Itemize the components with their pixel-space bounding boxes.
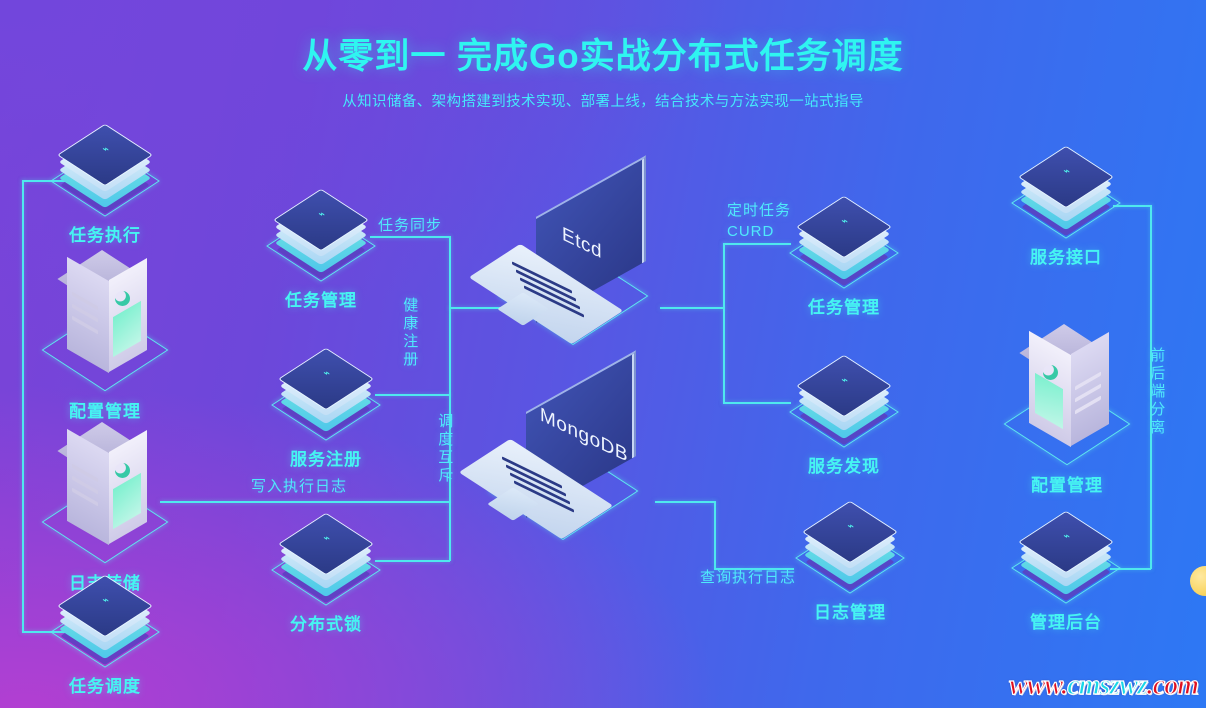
page-title: 从零到一 完成Go实战分布式任务调度 xyxy=(0,38,1206,77)
server-body xyxy=(1021,321,1113,453)
server-body xyxy=(59,247,151,379)
layered-stack-icon: ⌁ xyxy=(52,123,158,215)
server-power-led xyxy=(115,463,130,478)
laptop-icon: Etcd xyxy=(478,190,668,340)
node-distributed-lock[interactable]: ⌁ 分布式锁 xyxy=(273,512,379,635)
stack-chip-glyph: ⌁ xyxy=(323,532,329,545)
decorative-circle xyxy=(1190,566,1206,596)
edge-label-health-register: 健康注册 xyxy=(399,297,419,389)
node-config-management-left[interactable]: 配置管理 xyxy=(46,243,164,422)
node-label: 任务调度 xyxy=(52,672,158,697)
stack-chip-glyph: ⌁ xyxy=(323,367,329,380)
node-label: 服务注册 xyxy=(273,445,379,470)
node-label: 任务管理 xyxy=(268,286,374,311)
edge-label-timed-task: 定时任务 xyxy=(727,201,791,221)
node-log-dump[interactable]: 日志转储 xyxy=(46,415,164,594)
connector-logdump-to-lock xyxy=(160,501,450,503)
node-label: 管理后台 xyxy=(1013,608,1119,633)
server-tower-icon xyxy=(46,415,164,565)
edge-label-query-exec-log: 查询执行日志 xyxy=(700,568,796,588)
connector-bus-to-taskmgmt2 xyxy=(723,243,791,245)
edge-label-task-sync: 任务同步 xyxy=(378,216,442,236)
connector-col4-top-bus xyxy=(723,243,725,403)
stack-chip-glyph: ⌁ xyxy=(847,520,853,533)
node-mongodb[interactable]: MongoDB xyxy=(468,385,658,535)
edge-label-frontend-backend-split: 前后端分离 xyxy=(1146,347,1166,457)
connector-svcreg-to-bus xyxy=(375,394,450,396)
node-task-management-left[interactable]: ⌁ 任务管理 xyxy=(268,188,374,311)
layered-stack-icon: ⌁ xyxy=(791,354,897,446)
layered-stack-icon: ⌁ xyxy=(1013,510,1119,602)
stack-chip-glyph: ⌁ xyxy=(318,208,324,221)
node-label: 日志管理 xyxy=(797,598,903,623)
laptop-icon: MongoDB xyxy=(468,385,658,535)
diagram-canvas: 从零到一 完成Go实战分布式任务调度 从知识储备、架构搭建到技术实现、部署上线，… xyxy=(0,0,1206,708)
server-tower-icon xyxy=(1008,317,1126,467)
layered-stack-icon: ⌁ xyxy=(273,347,379,439)
header: 从零到一 完成Go实战分布式任务调度 从知识储备、架构搭建到技术实现、部署上线，… xyxy=(0,0,1206,111)
server-tower-icon xyxy=(46,243,164,393)
layered-stack-icon: ⌁ xyxy=(268,188,374,280)
node-etcd[interactable]: Etcd xyxy=(478,190,668,340)
layered-stack-icon: ⌁ xyxy=(273,512,379,604)
connector-etcd-out xyxy=(660,307,724,309)
connector-bus-to-svcdisc xyxy=(723,402,791,404)
node-label: 服务接口 xyxy=(1013,243,1119,268)
node-admin-console[interactable]: ⌁ 管理后台 xyxy=(1013,510,1119,633)
site-watermark: www.cmszwz.com xyxy=(1009,670,1198,702)
connector-col4-bottom-bus xyxy=(714,501,716,569)
layered-stack-icon: ⌁ xyxy=(52,574,158,666)
page-subtitle: 从知识储备、架构搭建到技术实现、部署上线，结合技术与方法实现一站式指导 xyxy=(0,90,1206,111)
node-service-discovery[interactable]: ⌁ 服务发现 xyxy=(791,354,897,477)
watermark-prefix: www. xyxy=(1009,670,1067,701)
node-label: 分布式锁 xyxy=(273,610,379,635)
node-service-api[interactable]: ⌁ 服务接口 xyxy=(1013,145,1119,268)
connector-mongo-out xyxy=(655,501,715,503)
layered-stack-icon: ⌁ xyxy=(791,195,897,287)
node-service-registry[interactable]: ⌁ 服务注册 xyxy=(273,347,379,470)
node-log-management[interactable]: ⌁ 日志管理 xyxy=(797,500,903,623)
watermark-domain: cmszwz xyxy=(1067,670,1147,701)
node-label: 配置管理 xyxy=(1008,471,1126,496)
connector-lock-to-bus xyxy=(375,560,450,562)
node-label: 任务管理 xyxy=(791,293,897,318)
stack-chip-glyph: ⌁ xyxy=(102,594,108,607)
node-config-management-right[interactable]: 配置管理 xyxy=(1008,317,1126,496)
node-task-execution[interactable]: ⌁ 任务执行 xyxy=(52,123,158,246)
server-body xyxy=(59,419,151,551)
layered-stack-icon: ⌁ xyxy=(1013,145,1119,237)
watermark-tld: .com xyxy=(1147,670,1198,701)
node-task-management-right[interactable]: ⌁ 任务管理 xyxy=(791,195,897,318)
stack-chip-glyph: ⌁ xyxy=(102,143,108,156)
stack-chip-glyph: ⌁ xyxy=(1063,165,1069,178)
connector-col1-spine xyxy=(22,180,24,632)
connector-col2-bus xyxy=(449,236,451,561)
stack-chip-glyph: ⌁ xyxy=(841,374,847,387)
edge-label-write-exec-log: 写入执行日志 xyxy=(251,477,347,497)
stack-chip-glyph: ⌁ xyxy=(841,215,847,228)
edge-label-timed-task-curd: CURD xyxy=(727,222,774,242)
edge-label-schedule-mutex: 调度互斥 xyxy=(434,413,454,505)
stack-chip-glyph: ⌁ xyxy=(1063,530,1069,543)
node-label: 服务发现 xyxy=(791,452,897,477)
server-power-led xyxy=(115,291,130,306)
server-power-led xyxy=(1043,365,1058,380)
layered-stack-icon: ⌁ xyxy=(797,500,903,592)
node-task-scheduling[interactable]: ⌁ 任务调度 xyxy=(52,574,158,697)
